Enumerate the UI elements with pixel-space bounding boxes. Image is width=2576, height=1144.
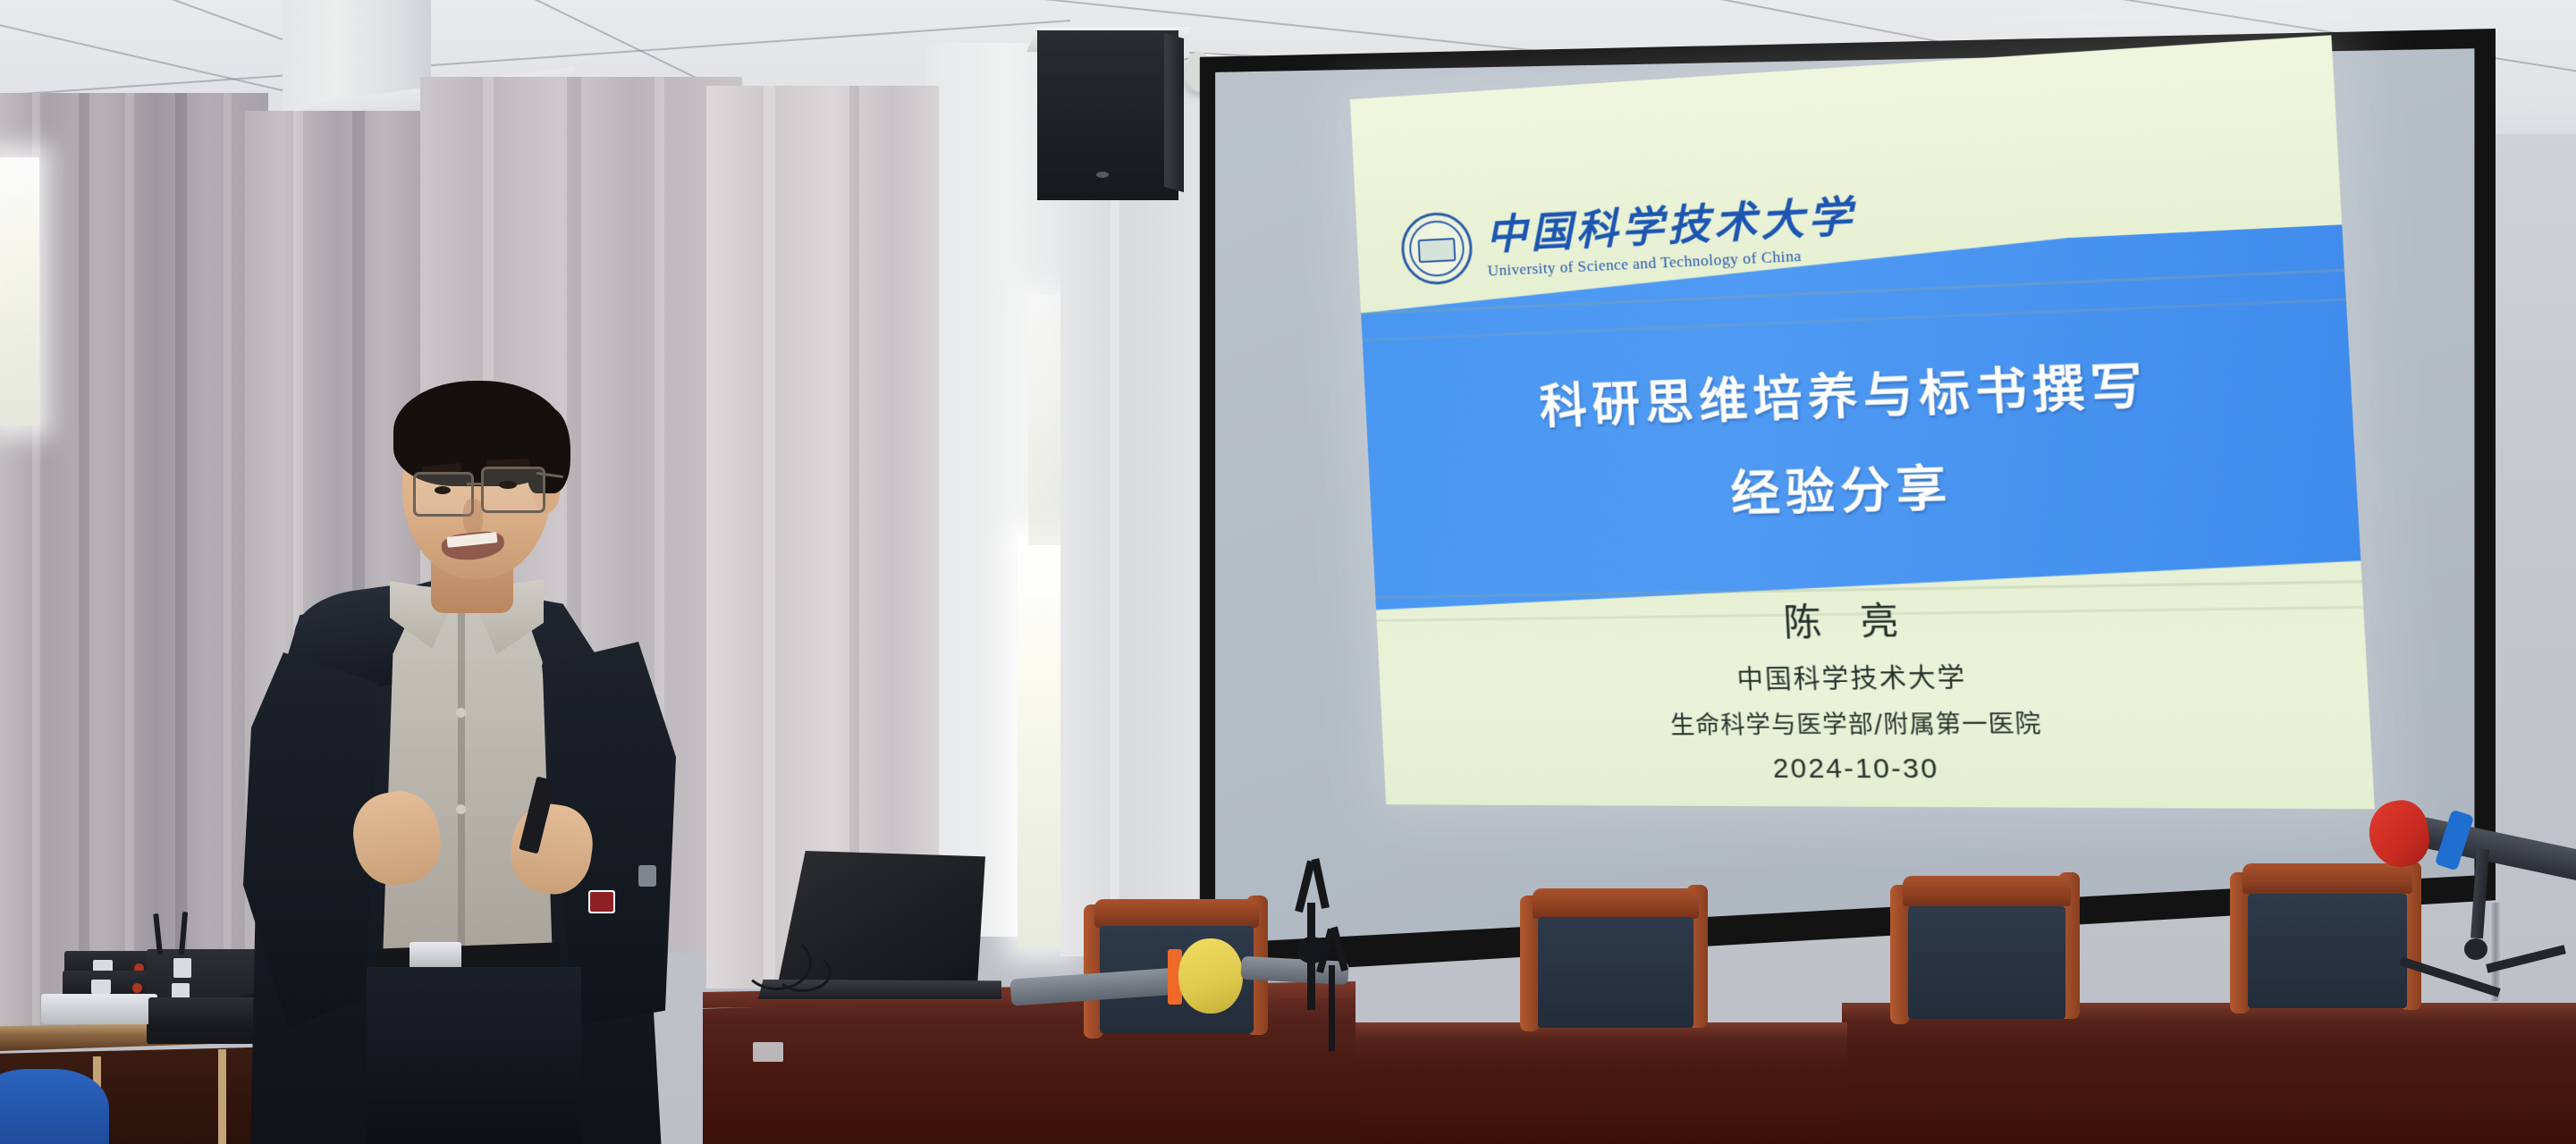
lecture-hall-scene: 中国科学技术大学 University of Science and Techn… [0, 0, 2576, 1144]
curtain-left [0, 93, 268, 1031]
ustc-seal-icon [1399, 211, 1474, 286]
eyeglass-bridge [467, 483, 483, 485]
jacket-sleeve-tag [638, 865, 656, 887]
chair-4 [2226, 862, 2428, 1021]
handheld-mic-foam [1178, 938, 1243, 1014]
audio-receiver-3-display-a [173, 958, 191, 978]
slide-presenter-block: 陈 亮 中国科学技术大学 生命科学与医学部/附属第一医院 2024-10-30 [1375, 583, 2373, 786]
projected-slide: 中国科学技术大学 University of Science and Techn… [1350, 35, 2375, 809]
jacket-brand-logo [588, 890, 615, 913]
window-light-center [1018, 536, 1066, 947]
presenter-organization: 中国科学技术大学 [1379, 654, 2369, 699]
presenter-eye-left [435, 486, 451, 494]
window-light-left [0, 157, 39, 425]
presenter-trousers [367, 967, 581, 1144]
chair-2 [1516, 883, 1715, 1037]
audio-mixer [41, 994, 157, 1024]
audio-receiver-2-display [91, 980, 111, 994]
presentation-date: 2024-10-30 [1383, 753, 2373, 786]
presenter-eye-right [499, 481, 517, 489]
presenter-shirt [383, 586, 553, 962]
presenter [268, 357, 840, 1144]
boom-mic-knob [2464, 938, 2487, 960]
presenter-shirt-placket [458, 613, 465, 951]
chair-3 [1887, 872, 2087, 1030]
shirt-button-1 [456, 708, 466, 718]
presenter-nose [463, 499, 483, 534]
shirt-button-2 [456, 804, 466, 814]
audio-amp [148, 997, 263, 1031]
audio-receiver-2-led [132, 983, 142, 993]
wall-speaker [1037, 30, 1178, 200]
gooseneck-mic-2-stem [1329, 965, 1335, 1051]
presenter-department: 生命科学与医学部/附属第一医院 [1381, 702, 2371, 741]
curtain-right [1060, 107, 1221, 956]
window-light-center-upper [1028, 295, 1064, 545]
